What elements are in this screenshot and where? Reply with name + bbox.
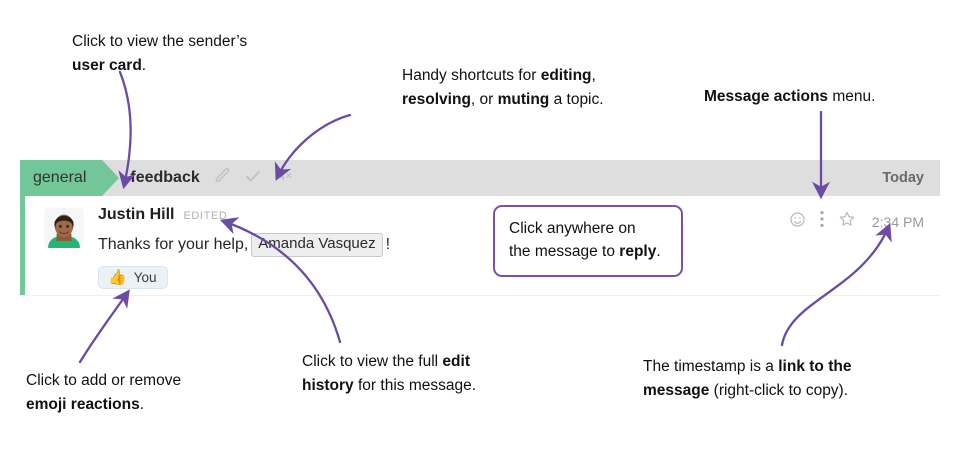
annotation-line: Message actions menu. [704,85,875,109]
thumbs-up-emoji: 👍 [108,270,127,285]
user-mention-pill[interactable]: Amanda Vasquez [251,233,382,257]
annotation-edit-history: Click to view the full edithistory for t… [302,350,476,397]
annotation-line: Click to view the sender’suser card. [72,30,247,77]
message-text-after: ! [386,236,390,254]
message-text-before: Thanks for your help, [98,236,248,254]
message-timestamp[interactable]: 2:34 PM [872,214,924,230]
annotation-line: Handy shortcuts for editing,resolving, o… [402,64,604,111]
annotation-timestamp-link: The timestamp is a link to themessage (r… [643,355,851,402]
edited-marker[interactable]: EDITED [183,210,227,222]
annotation-user-card: Click to view the sender’suser card. [72,30,247,77]
edit-topic-icon[interactable] [214,167,231,189]
sender-line: Justin Hill EDITED [98,206,390,227]
sender-name[interactable]: Justin Hill [98,206,174,224]
annotation-line: Click to add or removeemoji reactions. [26,369,181,416]
annotation-line: The timestamp is a link to themessage (r… [643,355,851,402]
reaction-pill[interactable]: 👍 You [98,266,168,289]
recipient-bar[interactable]: general feedback [20,160,940,196]
date-label: Today [882,170,924,186]
message-actions-icon[interactable] [819,210,825,233]
message-row[interactable]: Justin Hill EDITED Thanks for your help,… [20,196,940,296]
mute-topic-icon[interactable] [275,167,294,189]
annotation-topic-shortcuts: Handy shortcuts for editing,resolving, o… [402,64,604,111]
message-controls: 2:34 PM [789,210,924,233]
reaction-count-label: You [134,270,157,285]
annotation-message-actions: Message actions menu. [704,85,875,109]
annotation-line: Click to view the full edithistory for t… [302,350,476,397]
add-reaction-icon[interactable] [789,211,806,233]
stream-name: general [33,169,86,187]
arrow-emoji-reactions [80,292,128,362]
reaction-list: 👍 You [98,266,390,289]
avatar[interactable] [44,208,84,248]
topic-label[interactable]: feedback [130,169,199,187]
topic-action-icons [214,167,294,190]
message-body: Justin Hill EDITED Thanks for your help,… [98,206,390,289]
callout-text: Click anywhere onthe message to reply. [509,217,667,264]
message-list-mock: general feedback [20,160,940,296]
stream-label[interactable]: general [20,160,102,196]
message-content: Thanks for your help, Amanda Vasquez ! [98,233,390,257]
reply-callout: Click anywhere onthe message to reply. [493,205,683,277]
star-message-icon[interactable] [838,210,856,233]
annotation-emoji-reactions: Click to add or removeemoji reactions. [26,369,181,416]
resolve-topic-icon[interactable] [244,167,262,190]
